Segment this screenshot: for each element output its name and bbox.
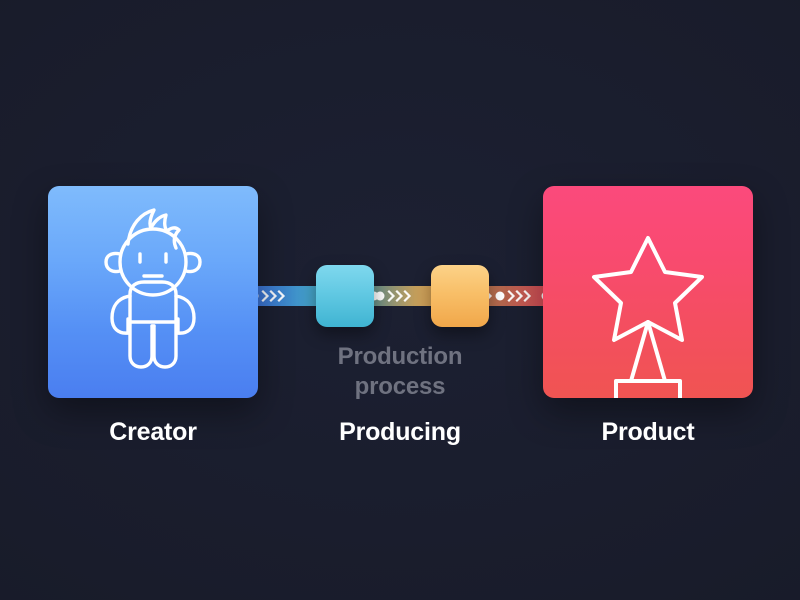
step-chip-teal[interactable] (316, 265, 374, 327)
person-icon (48, 186, 258, 398)
chevron-right-icon (397, 292, 402, 301)
chevron-right-icon (509, 292, 514, 301)
chevron-right-icon (405, 292, 410, 301)
chevron-right-icon (389, 292, 394, 301)
chevron-right-icon (271, 292, 276, 301)
connector-dot (496, 292, 505, 301)
chevron-right-icon (279, 292, 284, 301)
step-chip-amber[interactable] (431, 265, 489, 327)
connector-markers (248, 286, 552, 306)
stage-label-creator: Creator (48, 418, 258, 447)
connector-dot (376, 292, 385, 301)
stage-label-product: Product (543, 418, 753, 447)
chevron-right-icon (525, 292, 530, 301)
trophy-star-icon (543, 186, 753, 398)
chevron-right-icon (517, 292, 522, 301)
canvas: Production process Creator Producing Pro… (0, 0, 800, 600)
chevron-right-icon (263, 292, 268, 301)
stage-label-producing: Producing (295, 418, 505, 447)
process-caption: Production process (295, 342, 505, 402)
